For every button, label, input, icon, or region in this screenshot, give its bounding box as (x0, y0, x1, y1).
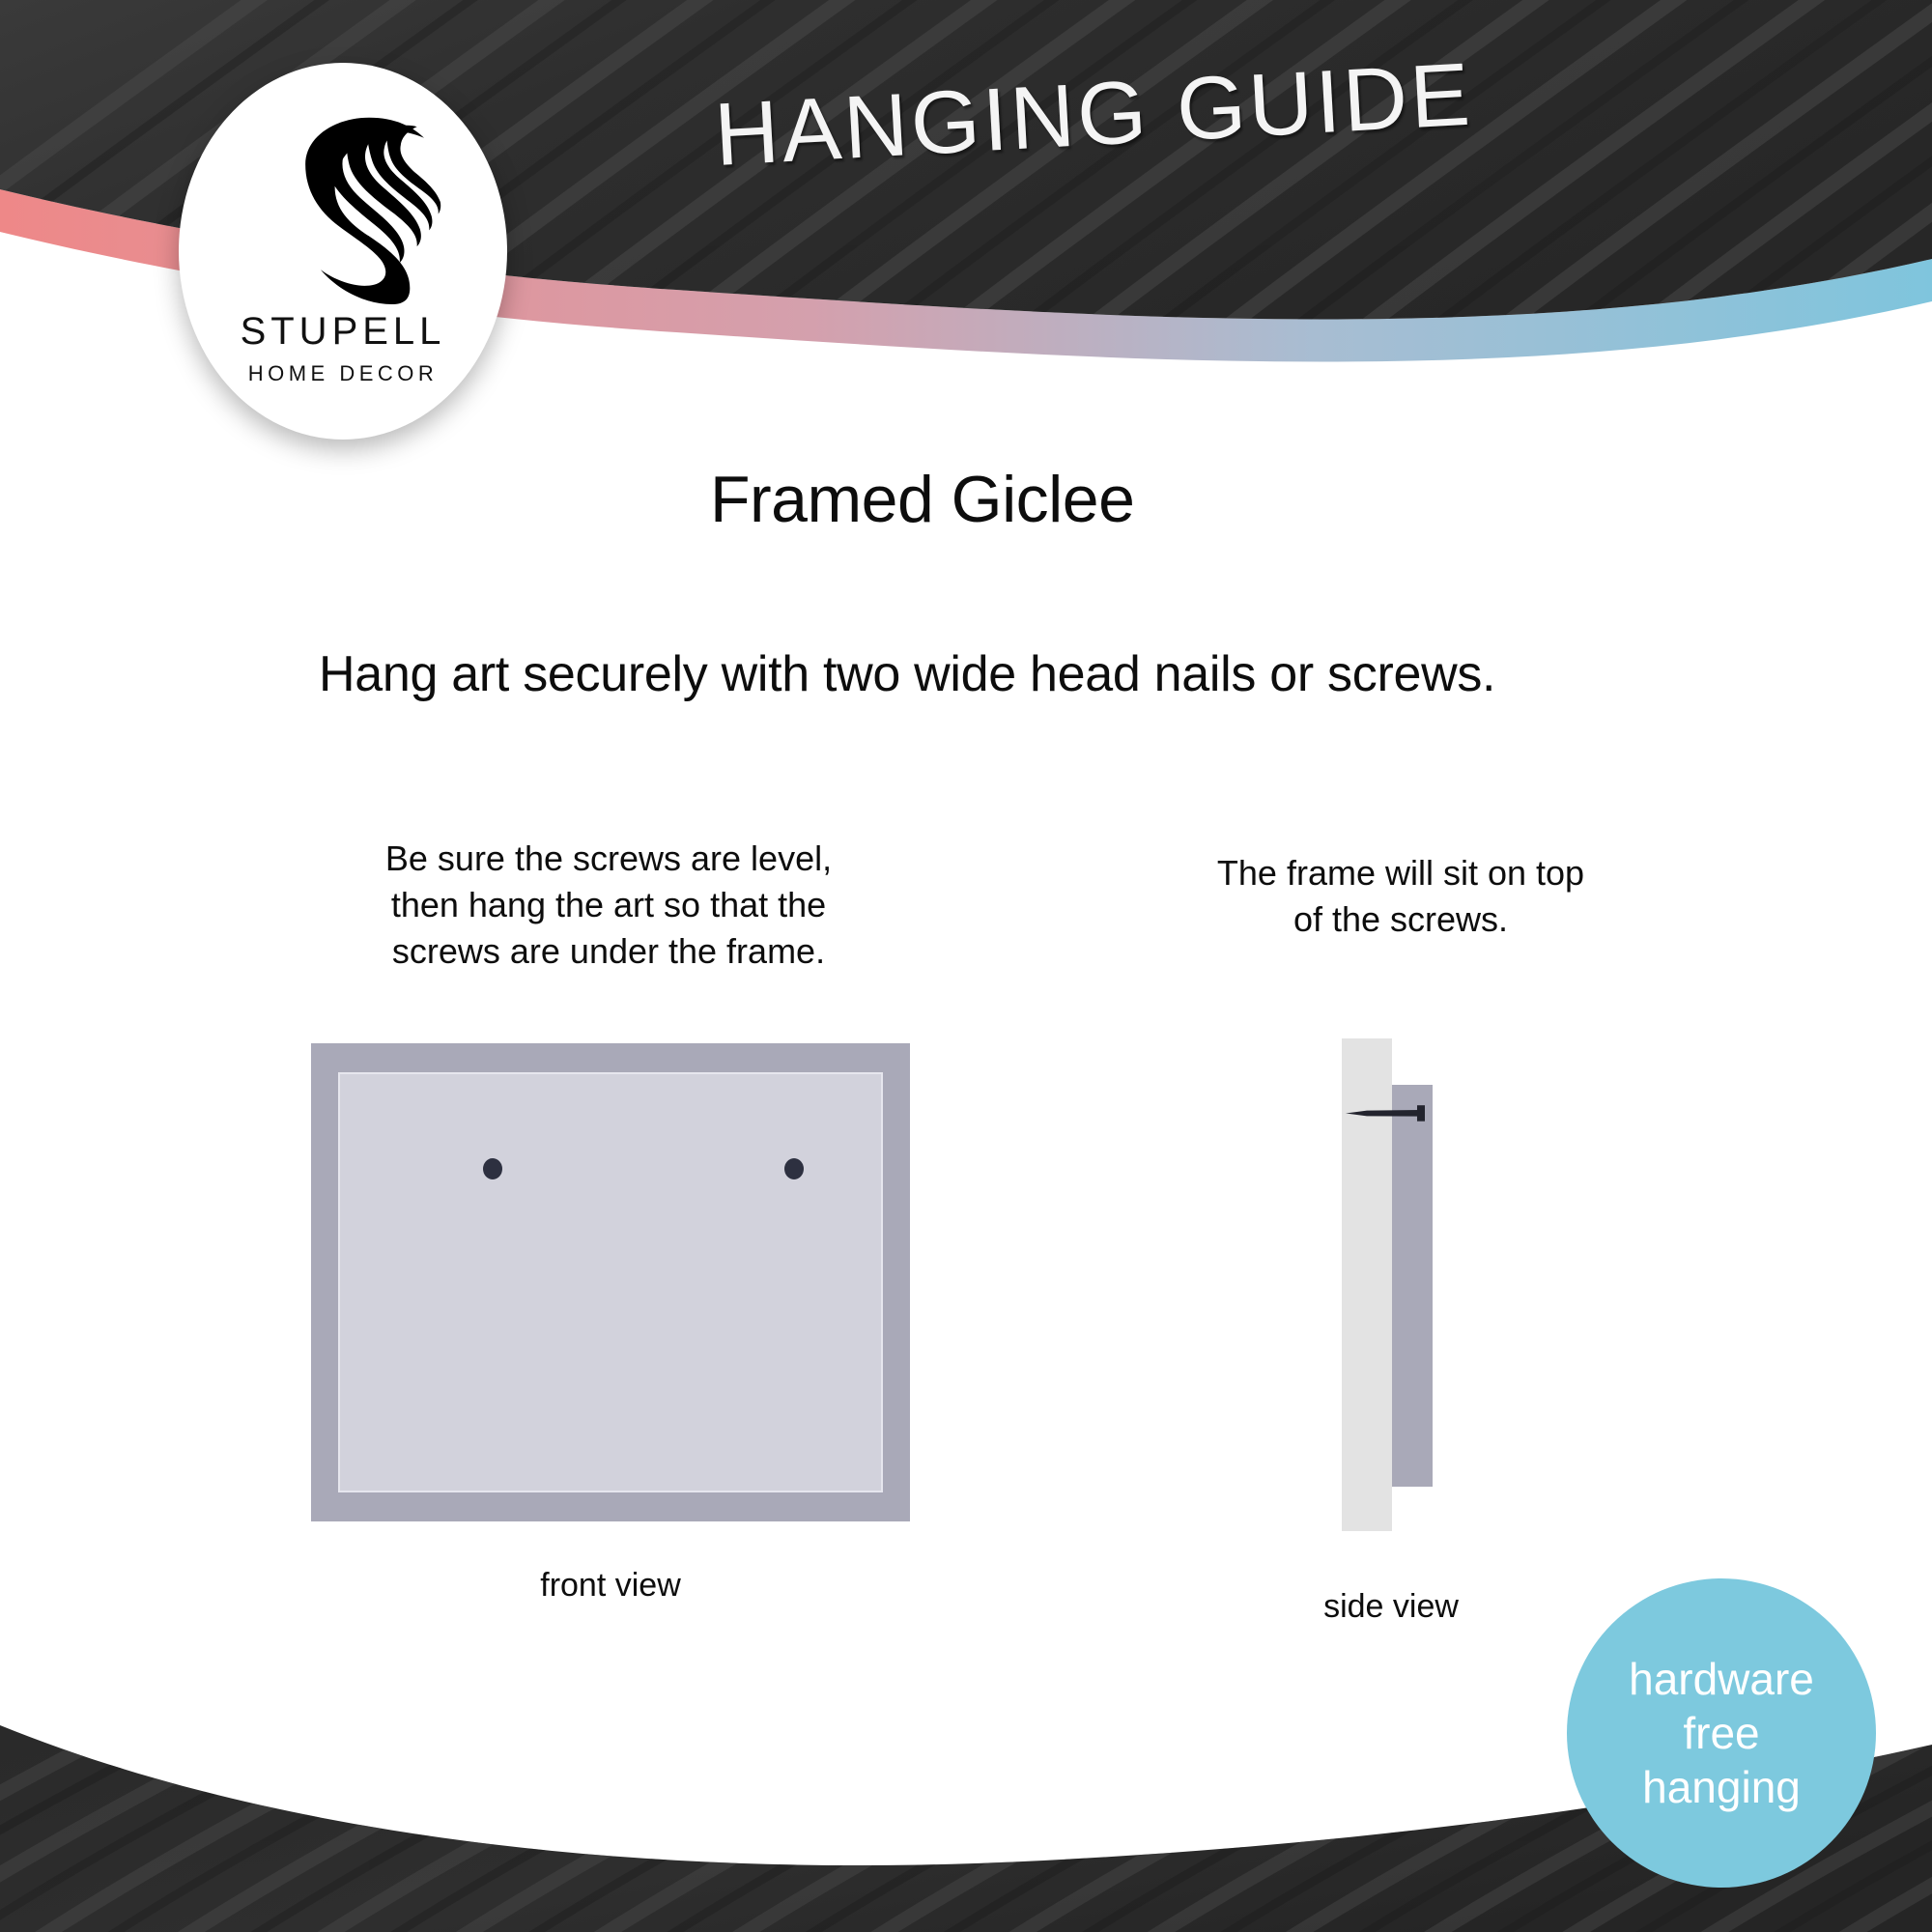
badge-line: hanging (1629, 1760, 1814, 1814)
caption-line: of the screws. (1101, 896, 1700, 943)
brand-logo-badge: STUPELL HOME DECOR (179, 63, 507, 440)
side-view-diagram (1342, 1038, 1564, 1531)
front-view-label: front view (417, 1567, 804, 1605)
caption-line: Be sure the screws are level, (290, 836, 927, 882)
badge-line: free (1629, 1706, 1814, 1760)
screw-marker-left (483, 1158, 502, 1179)
caption-line: screws are under the frame. (290, 928, 927, 975)
front-view-diagram (311, 1043, 910, 1521)
side-view-label: side view (1246, 1588, 1536, 1626)
frame-cross-section (1392, 1085, 1433, 1487)
logo-wordmark: STUPELL (241, 310, 446, 354)
stupell-swoosh-icon (241, 101, 444, 304)
product-type-heading: Framed Giclee (710, 462, 1134, 537)
front-view-caption-block: Be sure the screws are level, then hang … (290, 836, 927, 975)
side-view-caption-block: The frame will sit on top of the screws. (1101, 850, 1700, 943)
lead-instruction-text: Hang art securely with two wide head nai… (319, 645, 1495, 703)
caption-line: then hang the art so that the (290, 882, 927, 928)
caption-line: The frame will sit on top (1101, 850, 1700, 896)
badge-line: hardware (1629, 1652, 1814, 1706)
screw-marker-right (784, 1158, 804, 1179)
nail-icon (1346, 1102, 1433, 1123)
hanging-guide-page: HANGING GUIDE STUPELL HOME DECOR Framed … (0, 0, 1932, 1932)
hardware-free-hanging-badge: hardware free hanging (1567, 1578, 1876, 1888)
logo-subtitle: HOME DECOR (248, 361, 439, 386)
frame-mat-area (338, 1072, 883, 1492)
